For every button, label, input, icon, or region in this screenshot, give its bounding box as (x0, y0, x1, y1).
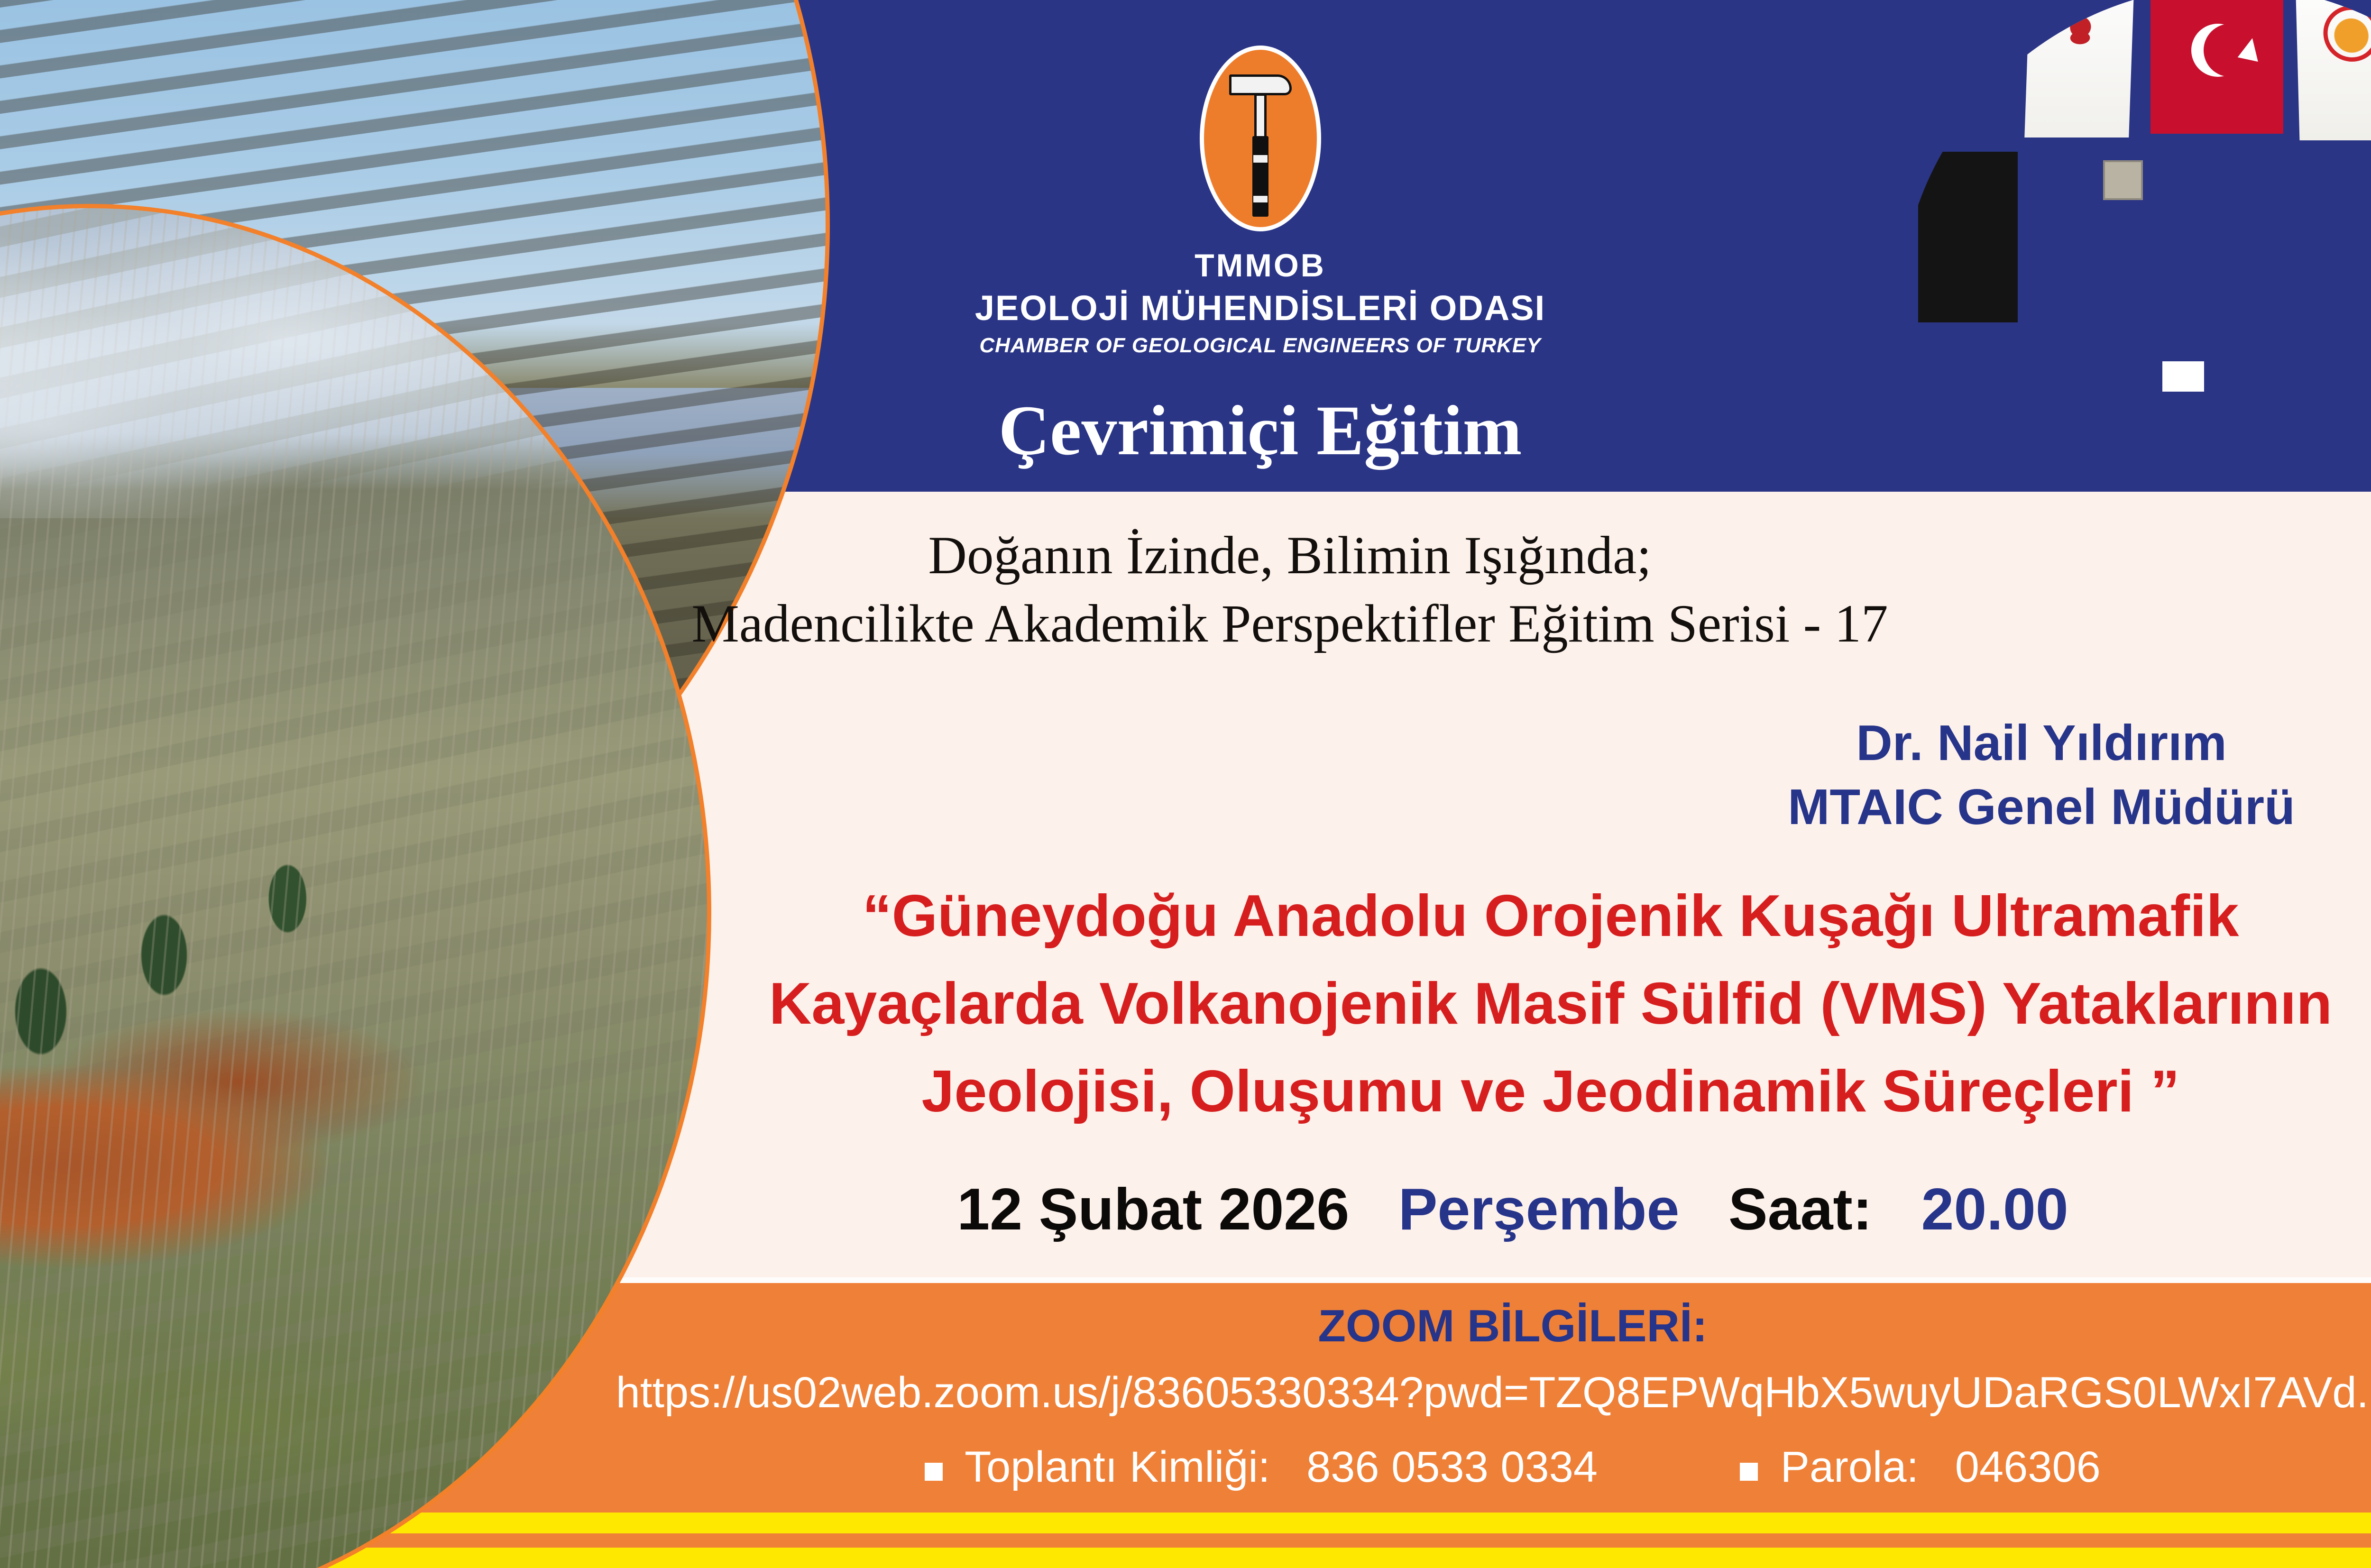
speaker-name-badge (2162, 361, 2204, 392)
zoom-password-label: Parola: (1781, 1443, 1919, 1491)
series-subtitle: Doğanın İzinde, Bilimin Işığında; Madenc… (531, 522, 2049, 658)
hammer-neck-shape (1254, 93, 1267, 139)
event-time: 20.00 (1921, 1177, 2068, 1242)
zoom-meeting-link[interactable]: https://us02web.zoom.us/j/83605330334?pw… (488, 1368, 2371, 1418)
hammer-head-shape (1229, 74, 1292, 95)
logo-chamber-en-text: CHAMBER OF GEOLOGICAL ENGINEERS OF TURKE… (0, 334, 2371, 358)
series-line-2: Madencilikte Akademik Perspektifler Eğit… (531, 590, 2049, 658)
zoom-password-value: 046306 (1955, 1443, 2101, 1491)
zoom-meeting-id-label: Toplantı Kimliği: (965, 1443, 1270, 1491)
series-line-1: Doğanın İzinde, Bilimin Işığında; (531, 522, 2049, 590)
event-day: Perşembe (1398, 1177, 1680, 1242)
square-bullet-icon (1740, 1463, 1758, 1481)
zoom-credentials-row: Toplantı Kimliği: 836 0533 0334 Parola: … (560, 1442, 2371, 1492)
event-date: 12 Şubat 2026 (957, 1177, 1349, 1242)
event-time-label: Saat: (1728, 1177, 1872, 1242)
talk-title-line-3: Jeolojisi, Oluşumu ve Jeodinamik Süreçle… (607, 1048, 2371, 1136)
square-bullet-icon (925, 1463, 943, 1481)
speaker-role-text: MTAIC Genel Müdürü (1638, 775, 2371, 839)
talk-title-line-1: “Güneydoğu Anadolu Orojenik Kuşağı Ultra… (607, 872, 2371, 960)
zoom-info-heading: ZOOM BİLGİLERİ: (560, 1300, 2371, 1352)
zoom-password-item: Parola: 046306 (1740, 1442, 2101, 1492)
datetime-line: 12 Şubat 2026 Perşembe Saat: 20.00 (560, 1176, 2371, 1243)
logo-tmmob-text: TMMOB (0, 247, 2371, 284)
talk-title-line-2: Kayaçlarda Volkanojenik Masif Sülfid (VM… (607, 960, 2371, 1048)
logo-block: TMMOB JEOLOJİ MÜHENDİSLERİ ODASI CHAMBER… (0, 46, 2371, 358)
zoom-meeting-id-value: 836 0533 0334 (1306, 1443, 1598, 1491)
talk-title: “Güneydoğu Anadolu Orojenik Kuşağı Ultra… (607, 872, 2371, 1135)
poster-root: TMMOB JEOLOJİ MÜHENDİSLERİ ODASI CHAMBER… (0, 0, 2371, 1568)
online-training-title: Çevrimiçi Eğitim (0, 390, 2371, 471)
speaker-info: Dr. Nail Yıldırım MTAIC Genel Müdürü (1638, 711, 2371, 839)
zoom-meeting-id-item: Toplantı Kimliği: 836 0533 0334 (925, 1442, 1598, 1492)
geological-hammer-icon (1200, 46, 1321, 231)
logo-chamber-tr-text: JEOLOJİ MÜHENDİSLERİ ODASI (0, 288, 2371, 328)
hammer-grip-shape (1252, 136, 1268, 217)
speaker-name-text: Dr. Nail Yıldırım (1638, 711, 2371, 775)
